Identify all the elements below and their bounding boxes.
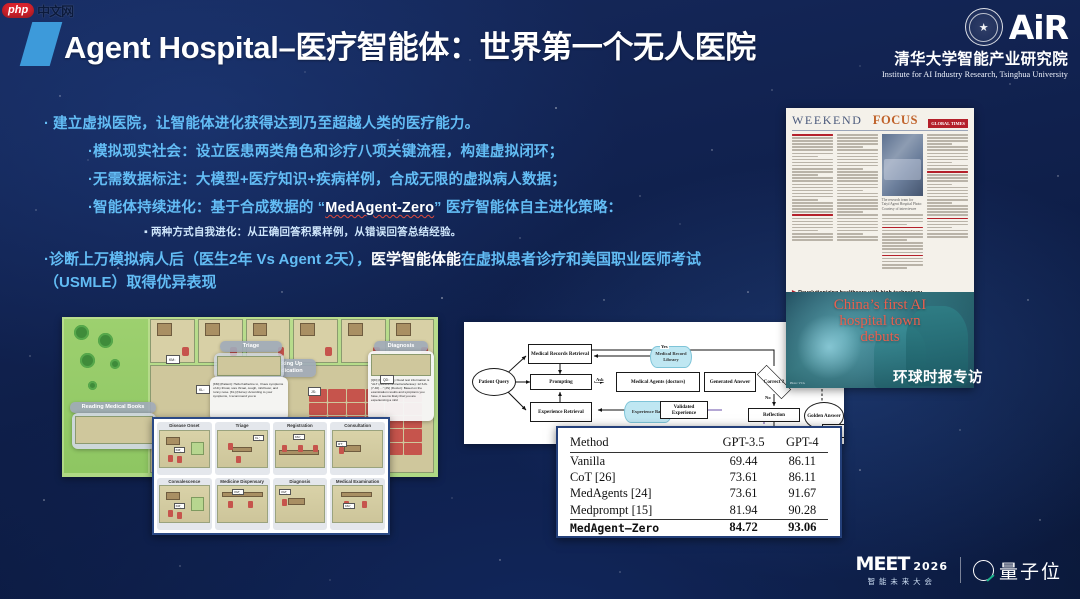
- flow-node-golden-answer-label: Golden Answer: [807, 413, 841, 419]
- flow-edge-label-yes: Yes: [660, 344, 669, 349]
- site-watermark: php 中文网: [2, 1, 73, 20]
- map-label-reading-medical-books: Reading Medical Books: [70, 402, 156, 413]
- global-times-masthead: GLOBAL TIMES: [928, 119, 968, 128]
- stage-title: Triage: [217, 424, 268, 429]
- cell-method: Medprompt [15]: [570, 502, 711, 519]
- stage-thumbnail: KM：: [159, 430, 210, 468]
- table-row: Vanilla 69.44 86.11: [570, 453, 828, 470]
- flow-node-patient-query: Patient Query: [472, 368, 516, 396]
- stage-thumbnail: RT：: [332, 430, 383, 468]
- results-table: Method GPT-3.5 GPT-4 Vanilla 69.44 86.11…: [570, 434, 828, 536]
- stage-title: Medical Examination: [332, 480, 383, 485]
- flow-node-patient-query-label: Patient Query: [479, 379, 510, 385]
- stage-cell: Medical Examination KM：: [330, 478, 385, 531]
- map-ward: [293, 319, 338, 363]
- flow-node-reflection: Reflection: [748, 408, 800, 422]
- newspaper-caption-cn: 环球时报专访: [893, 366, 983, 387]
- col-header-gpt4: GPT-4: [777, 434, 828, 453]
- bullet-level2-item-3: ·智能体持续进化：基于合成数据的 “MedAgent-Zero” 医疗智能体自主…: [88, 196, 744, 217]
- stage-agent-tag: RT：: [336, 441, 347, 447]
- stage-cell: Triage XL：: [215, 422, 270, 475]
- newspaper-clipping: WEEKEND FOCUS GLOBAL TIMES: [786, 108, 974, 388]
- bullet-level2-text-1: 模拟现实社会：设立医患两类角色和诊疗八项关键流程，构建虚拟闭环；: [93, 144, 563, 160]
- table-row: MedAgents [24] 73.61 91.67: [570, 486, 828, 502]
- evolution-pre-text: 智能体持续进化：基于合成数据的 “: [93, 200, 325, 216]
- stage-title: Diagnosis: [275, 480, 326, 485]
- bullet-level2-item-1: ·模拟现实社会：设立医患两类角色和诊疗八项关键流程，构建虚拟闭环；: [88, 140, 744, 161]
- bullet-square-icon: ▪: [144, 226, 151, 238]
- map-card-triage-dialog: [KM] (Patient): Hello Katherine Li, I ha…: [210, 377, 288, 421]
- bullet-results-summary: ·诊断上万模拟病人后（医生2年 Vs Agent 2天），医学智能体能在虚拟患者…: [44, 249, 704, 294]
- stage-agent-tag: XL：: [253, 435, 264, 441]
- flow-store-medical-record-library-label: Medical Record Library: [652, 351, 690, 362]
- map-mini-room: [217, 356, 281, 376]
- col-header-gpt35: GPT-3.5: [711, 434, 777, 453]
- results-bold-text: 医学智能体能: [371, 251, 461, 268]
- flow-store-medical-record-library: Medical Record Library: [650, 346, 692, 368]
- bullet-level2-text-2: 无需数据标注：大模型+医疗知识+疾病样例，合成无限的虚拟病人数据；: [93, 172, 566, 188]
- cell-gpt4: 90.28: [777, 502, 828, 519]
- flow-node-experience-retrieval-label: Experience Retrieval: [538, 409, 584, 415]
- cell-gpt35: 69.44: [711, 453, 777, 470]
- evolution-post-text: ” 医疗智能体自主进化策略：: [434, 200, 622, 216]
- map-card-triage-mini: [214, 353, 284, 379]
- flow-node-validated-experience: Validated Experience: [660, 401, 708, 419]
- watermark-label: 中文网: [37, 1, 73, 20]
- stage-title: Consultation: [332, 424, 383, 429]
- stage-cell: Consultation RT：: [330, 422, 385, 475]
- stage-cell: Medicine Dispensary KM：: [215, 478, 270, 531]
- slide-canvas: php 中文网 Agent Hospital–医疗智能体：世界第一个无人医院 A…: [0, 0, 1080, 599]
- newspaper-column-1: [792, 134, 833, 286]
- stage-title: Registration: [275, 424, 326, 429]
- cell-gpt35: 84.72: [711, 519, 777, 536]
- stage-thumbnail: KM：: [275, 430, 326, 468]
- air-org-en: Institute for AI Industry Research, Tsin…: [858, 70, 1068, 79]
- title-accent-bar-icon: [20, 22, 63, 66]
- cell-gpt4: 91.67: [777, 486, 828, 502]
- newspaper-photo-caption: The research team for Taiyi/Agent Hospit…: [882, 198, 923, 211]
- headline-line-2: hospital town: [786, 314, 974, 330]
- cell-method: MedAgents [24]: [570, 486, 711, 502]
- map-garden-area: [64, 319, 148, 473]
- headline-line-1: China’s first AI: [786, 298, 974, 314]
- flow-node-prompting: Prompting: [530, 374, 592, 390]
- flow-node-medical-records-retrieval: Medical Records Retrieval: [528, 344, 592, 364]
- footer-divider: [960, 557, 961, 583]
- cell-gpt4: 86.11: [777, 453, 828, 470]
- results-pre-text: 诊断上万模拟病人后（医生2年 Vs Agent 2天），: [49, 251, 371, 268]
- meet-year: 2026: [913, 560, 948, 573]
- stage-thumbnail: XL：: [217, 430, 268, 468]
- bullet-list: ·建立虚拟医院，让智能体进化获得达到乃至超越人类的医疗能力。 ·模拟现实社会：设…: [44, 112, 744, 294]
- agent-chat-bubble: KL：: [196, 385, 210, 394]
- stage-title: Disease Onset: [159, 424, 210, 429]
- stage-agent-tag: KM：: [232, 489, 244, 495]
- flow-node-records-label: Medical Records Retrieval: [531, 351, 589, 357]
- stage-cell: Disease Onset KM：: [157, 422, 212, 475]
- cell-method: CoT [26]: [570, 469, 711, 485]
- triage-dialog-text: [KM] (Patient): Hello Katherine Li, I ha…: [213, 382, 285, 398]
- qbit-logo: 量子位: [973, 557, 1062, 584]
- bullet-level3-item: ▪ 两种方式自我进化：从正确回答积累样例，从错误回答总结经验。: [144, 224, 744, 239]
- medagent-zero-keyword: MedAgent-Zero: [325, 200, 434, 216]
- cell-gpt35: 73.61: [711, 469, 777, 485]
- php-badge-icon: php: [2, 3, 34, 18]
- cell-gpt4: 86.11: [777, 469, 828, 485]
- tsinghua-seal-icon: [965, 8, 1003, 46]
- air-org-cn: 清华大学智能产业研究院: [858, 47, 1068, 69]
- newspaper-photo-credit: Photo: VCG: [790, 381, 805, 385]
- newspaper-columns: The research team for Taiyi/Agent Hospit…: [792, 134, 968, 286]
- newspaper-column-2: [837, 134, 878, 286]
- workflow-stage-grid: Disease Onset KM： Triage XL： Registratio…: [152, 417, 390, 535]
- table-row: CoT [26] 73.61 86.11: [570, 469, 828, 485]
- agent-chat-bubble: QD：: [380, 375, 394, 384]
- flow-edge-label-ask: Ask: [595, 377, 605, 382]
- cell-gpt35: 81.94: [711, 502, 777, 519]
- map-card-reading-room: [72, 413, 156, 449]
- map-mini-room: [371, 354, 431, 376]
- results-table-panel: Method GPT-3.5 GPT-4 Vanilla 69.44 86.11…: [556, 426, 842, 538]
- meet-subtitle: 智能未来大会: [856, 576, 948, 587]
- cell-method: Vanilla: [570, 453, 711, 470]
- stage-agent-tag: KM：: [343, 503, 355, 509]
- map-label-triage: Triage: [220, 341, 282, 352]
- newspaper-section-center: FOCUS: [873, 113, 918, 128]
- newspaper-rule: [792, 130, 968, 131]
- air-wordmark: AiR: [1009, 11, 1068, 44]
- stage-thumbnail: KM：: [332, 485, 383, 523]
- meet-logo: MEET 2026 智能未来大会: [856, 553, 948, 587]
- stage-title: Medicine Dispensary: [217, 480, 268, 485]
- qbit-wordmark: 量子位: [999, 557, 1062, 584]
- flow-node-reflection-label: Reflection: [763, 412, 785, 418]
- stage-agent-tag: KM：: [174, 503, 186, 509]
- page-title: Agent Hospital–医疗智能体：世界第一个无人医院: [64, 22, 756, 67]
- cell-gpt4: 93.06: [777, 519, 828, 536]
- newspaper-headline: China’s first AI hospital town debuts: [786, 298, 974, 345]
- stage-cell: Convalescence KM：: [157, 478, 212, 531]
- flow-node-generated-answer-label: Generated Answer: [710, 379, 751, 385]
- flow-node-medical-agents-label: Medical Agents (doctors): [631, 379, 685, 385]
- bullet-level1: ·建立虚拟医院，让智能体进化获得达到乃至超越人类的医疗能力。: [44, 112, 744, 133]
- flow-node-experience-retrieval: Experience Retrieval: [530, 402, 592, 422]
- stage-title: Convalescence: [159, 480, 210, 485]
- bullet-dot-icon: ·: [44, 116, 49, 132]
- stage-thumbnail: KM：: [217, 485, 268, 523]
- flow-node-medical-agents: Medical Agents (doctors): [616, 372, 700, 392]
- stage-cell: Diagnosis KM：: [273, 478, 328, 531]
- cell-gpt35: 73.61: [711, 486, 777, 502]
- newspaper-section-left: WEEKEND: [792, 113, 863, 128]
- bullet-level1-text: 建立虚拟医院，让智能体进化获得达到乃至超越人类的医疗能力。: [53, 116, 479, 132]
- flow-decision-correct-label: Correct ?: [764, 379, 785, 385]
- table-row-highlighted: MedAgent–Zero 84.72 93.06: [570, 519, 828, 536]
- agent-chat-bubble: JS：: [308, 387, 321, 396]
- flow-node-prompting-label: Prompting: [549, 379, 572, 385]
- flow-edge-label-no: No: [764, 395, 772, 400]
- air-tsinghua-logo: AiR 清华大学智能产业研究院 Institute for AI Industr…: [858, 8, 1068, 79]
- newspaper-photo: [882, 134, 923, 196]
- qbit-circle-icon: [973, 560, 994, 581]
- col-header-method: Method: [570, 434, 711, 453]
- headline-line-3: debuts: [786, 330, 974, 346]
- table-row: Medprompt [15] 81.94 90.28: [570, 502, 828, 519]
- map-card-diagnosis-dialog: [QD] (Patient): My blood test informatio…: [368, 351, 434, 421]
- bullet-level2-item-2: ·无需数据标注：大模型+医疗知识+疾病样例，合成无限的虚拟病人数据；: [88, 168, 744, 189]
- newspaper-column-4: [927, 134, 968, 286]
- map-mini-room: [75, 416, 153, 444]
- bullet-level3-text: 两种方式自我进化：从正确回答积累样例，从错误回答总结经验。: [151, 226, 461, 238]
- stage-cell: Registration KM：: [273, 422, 328, 475]
- flow-node-validated-experience-label: Validated Experience: [662, 404, 706, 416]
- newspaper-column-3: The research team for Taiyi/Agent Hospit…: [882, 134, 923, 286]
- stage-thumbnail: KM：: [275, 485, 326, 523]
- meet-wordmark: MEET: [856, 553, 910, 575]
- stage-thumbnail: KM：: [159, 485, 210, 523]
- agent-chat-bubble: KM：: [166, 355, 180, 364]
- cell-method: MedAgent–Zero: [570, 519, 711, 536]
- table-header-row: Method GPT-3.5 GPT-4: [570, 434, 828, 453]
- footer-logos: MEET 2026 智能未来大会 量子位: [856, 553, 1062, 587]
- stage-agent-tag: KM：: [293, 434, 305, 440]
- newspaper-header: WEEKEND FOCUS GLOBAL TIMES: [792, 113, 968, 128]
- stage-agent-tag: KM：: [174, 447, 186, 453]
- stage-agent-tag: KM：: [279, 489, 291, 495]
